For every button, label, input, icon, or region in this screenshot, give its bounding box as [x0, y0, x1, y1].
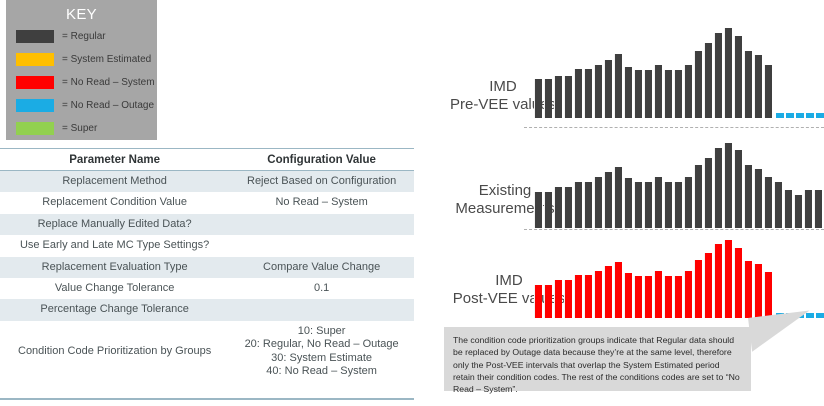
chart-bar — [774, 182, 782, 228]
chart-bar — [754, 169, 762, 228]
legend-item-label: = No Read – System — [62, 77, 155, 88]
legend-title: KEY — [6, 0, 157, 23]
chart-bar — [734, 150, 742, 228]
chart-bar — [804, 190, 812, 228]
legend-item-system-estimated: = System Estimated — [6, 49, 157, 69]
cell-parameter-name: Replacement Evaluation Type — [0, 257, 229, 278]
cell-configuration-value: Compare Value Change — [229, 257, 414, 278]
table-header-row: Parameter Name Configuration Value — [0, 149, 414, 171]
chart-bar — [614, 167, 622, 228]
column-header-parameter-name: Parameter Name — [0, 149, 229, 171]
chart-bar — [604, 172, 612, 228]
chart-bar — [664, 182, 672, 228]
chart-bar — [644, 276, 652, 318]
table-row: Replace Manually Edited Data? — [0, 214, 414, 235]
table-bottom-divider — [0, 398, 414, 400]
column-header-configuration-value: Configuration Value — [229, 149, 414, 171]
chart-bar — [644, 70, 652, 118]
chart-outage-dash — [816, 313, 824, 318]
chart-bar — [654, 177, 662, 228]
legend-item-regular: = Regular — [6, 26, 157, 46]
chart-bar — [594, 177, 602, 228]
chart-bar — [764, 65, 772, 118]
chart-bar — [794, 195, 802, 228]
table-row: Percentage Change Tolerance — [0, 299, 414, 320]
cell-configuration-value — [229, 214, 414, 235]
chart-bar — [674, 70, 682, 118]
cell-configuration-value — [229, 235, 414, 256]
cell-parameter-name: Replacement Condition Value — [0, 192, 229, 213]
chart-bar — [724, 143, 732, 228]
chart-bar — [714, 33, 722, 118]
chart-bar — [614, 54, 622, 118]
chart-bar — [754, 55, 762, 118]
chart-bar — [684, 65, 692, 118]
legend-item-label: = System Estimated — [62, 54, 151, 65]
chart-imd-post-vee — [534, 240, 824, 318]
table-row: Replacement Evaluation Type Compare Valu… — [0, 257, 414, 278]
chart-bar — [624, 67, 632, 118]
chart-bar — [694, 260, 702, 318]
legend-key-box: KEY = Regular = System Estimated = No Re… — [6, 0, 157, 140]
chart-outage-dash — [816, 113, 824, 118]
legend-item-label: = No Read – Outage — [62, 100, 154, 111]
chart-bar — [634, 70, 642, 118]
cell-parameter-name: Condition Code Prioritization by Groups — [0, 321, 229, 383]
cell-configuration-value: 10: Super 20: Regular, No Read – Outage … — [229, 321, 414, 383]
chart-bar — [784, 190, 792, 228]
chart-bar — [534, 192, 542, 228]
chart-bar — [564, 187, 572, 228]
table-row: Use Early and Late MC Type Settings? — [0, 235, 414, 256]
chart-outage-dash — [806, 113, 814, 118]
swatch-system-estimated-icon — [16, 53, 54, 66]
chart-bar — [544, 192, 552, 228]
chart-bar — [614, 262, 622, 318]
chart-bar — [534, 285, 542, 318]
chart-bar — [704, 43, 712, 118]
chart-bar — [664, 70, 672, 118]
configuration-parameters-table: Parameter Name Configuration Value Repla… — [0, 148, 414, 382]
chart-baseline-imd-pre-vee — [524, 127, 824, 128]
chart-bar — [744, 261, 752, 318]
chart-bar — [634, 182, 642, 228]
chart-bar — [534, 79, 542, 118]
chart-bar — [584, 182, 592, 228]
cell-parameter-name: Replacement Method — [0, 171, 229, 193]
chart-bar — [624, 273, 632, 318]
chart-bar — [594, 65, 602, 118]
chart-existing-measurements — [534, 143, 824, 228]
chart-bar — [734, 248, 742, 318]
callout-text: The condition code prioritization groups… — [444, 327, 751, 396]
chart-bar — [624, 178, 632, 228]
swatch-no-read-outage-icon — [16, 99, 54, 112]
cell-configuration-value: No Read – System — [229, 192, 414, 213]
chart-outage-dash — [786, 113, 794, 118]
chart-bar — [554, 280, 562, 318]
chart-bar — [744, 165, 752, 228]
swatch-no-read-system-icon — [16, 76, 54, 89]
legend-item-label: = Regular — [62, 31, 106, 42]
chart-bar — [574, 182, 582, 228]
chart-bar — [574, 275, 582, 318]
chart-bar — [554, 187, 562, 228]
cell-configuration-value: Reject Based on Configuration — [229, 171, 414, 193]
callout-pointer-icon — [748, 310, 814, 351]
chart-outage-dash — [776, 113, 784, 118]
chart-bar — [714, 244, 722, 318]
legend-item-super: = Super — [6, 118, 157, 138]
chart-bar — [644, 182, 652, 228]
chart-bar — [724, 28, 732, 118]
cell-parameter-name: Percentage Change Tolerance — [0, 299, 229, 320]
chart-bar — [564, 76, 572, 118]
chart-imd-pre-vee — [534, 28, 824, 118]
chart-bar — [604, 266, 612, 318]
chart-bar — [724, 240, 732, 318]
chart-baseline-existing-measurements — [524, 229, 824, 230]
chart-bar — [604, 60, 612, 118]
legend-item-label: = Super — [62, 123, 97, 134]
chart-bar — [704, 253, 712, 318]
chart-bar — [554, 76, 562, 118]
chart-bar — [764, 177, 772, 228]
callout-bubble: The condition code prioritization groups… — [444, 327, 751, 391]
table-row: Value Change Tolerance 0.1 — [0, 278, 414, 299]
chart-bar — [674, 276, 682, 318]
chart-bar — [654, 65, 662, 118]
table-row: Replacement Condition Value No Read – Sy… — [0, 192, 414, 213]
chart-bar — [744, 51, 752, 118]
chart-bar — [654, 271, 662, 318]
chart-bar — [754, 264, 762, 318]
swatch-regular-icon — [16, 30, 54, 43]
chart-bar — [634, 276, 642, 318]
chart-bar — [584, 69, 592, 118]
cell-parameter-name: Use Early and Late MC Type Settings? — [0, 235, 229, 256]
chart-bar — [714, 148, 722, 228]
chart-bar — [664, 276, 672, 318]
cell-configuration-value: 0.1 — [229, 278, 414, 299]
legend-item-no-read-system: = No Read – System — [6, 72, 157, 92]
legend-item-no-read-outage: = No Read – Outage — [6, 95, 157, 115]
chart-bar — [814, 190, 822, 228]
cell-parameter-name: Value Change Tolerance — [0, 278, 229, 299]
chart-bar — [684, 177, 692, 228]
chart-bar — [584, 275, 592, 318]
chart-bar — [684, 271, 692, 318]
chart-bar — [704, 158, 712, 228]
chart-bar — [544, 79, 552, 118]
chart-outage-dash — [796, 113, 804, 118]
chart-bar — [694, 165, 702, 228]
chart-bar — [694, 51, 702, 118]
table-row: Replacement Method Reject Based on Confi… — [0, 171, 414, 193]
swatch-super-icon — [16, 122, 54, 135]
chart-bar — [674, 182, 682, 228]
chart-bar — [734, 36, 742, 118]
cell-configuration-value — [229, 299, 414, 320]
table-row: Condition Code Prioritization by Groups … — [0, 321, 414, 383]
chart-bar — [564, 280, 572, 318]
chart-bar — [764, 272, 772, 318]
chart-bar — [544, 285, 552, 318]
chart-bar — [574, 69, 582, 118]
cell-parameter-name: Replace Manually Edited Data? — [0, 214, 229, 235]
chart-bar — [594, 271, 602, 318]
